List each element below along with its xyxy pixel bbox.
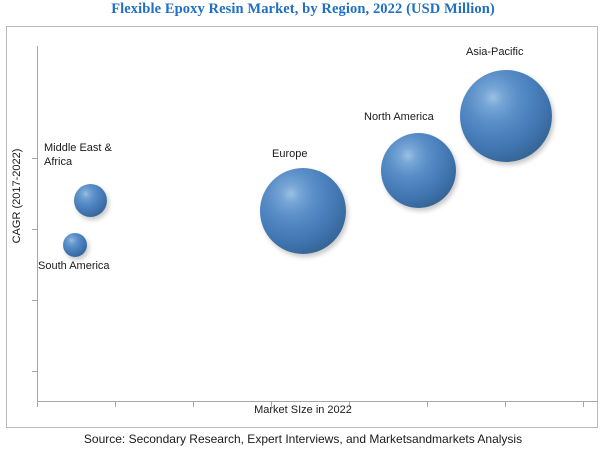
y-axis-tick: [32, 229, 37, 230]
bubble-middle-east-africa[interactable]: [74, 184, 107, 217]
bubble-label-south-america: South America: [38, 259, 110, 273]
bubble-label-north-america: North America: [364, 110, 434, 124]
x-axis-title: Market SIze in 2022: [0, 404, 606, 416]
chart-page: Flexible Epoxy Resin Market, by Region, …: [0, 0, 606, 460]
bubble-asia-pacific[interactable]: [460, 70, 552, 162]
source-note: Source: Secondary Research, Expert Inter…: [0, 432, 606, 446]
plot-area: Asia-Pacific North America Europe Middle…: [7, 27, 599, 429]
bubble-label-europe: Europe: [272, 147, 307, 161]
chart-frame: Asia-Pacific North America Europe Middle…: [6, 26, 598, 428]
y-axis-line: [37, 46, 38, 402]
bubble-label-asia-pacific: Asia-Pacific: [466, 45, 523, 59]
bubble-south-america[interactable]: [63, 233, 87, 257]
bubble-north-america[interactable]: [381, 133, 456, 208]
y-axis-tick: [32, 158, 37, 159]
y-axis-tick: [32, 300, 37, 301]
x-axis-line: [37, 401, 598, 402]
page-title: Flexible Epoxy Resin Market, by Region, …: [0, 1, 606, 18]
y-axis-title: CAGR (2017-2022): [11, 116, 23, 276]
bubble-europe[interactable]: [260, 168, 346, 254]
bubble-label-middle-east-africa: Middle East & Africa: [44, 141, 130, 169]
y-axis-tick: [32, 371, 37, 372]
